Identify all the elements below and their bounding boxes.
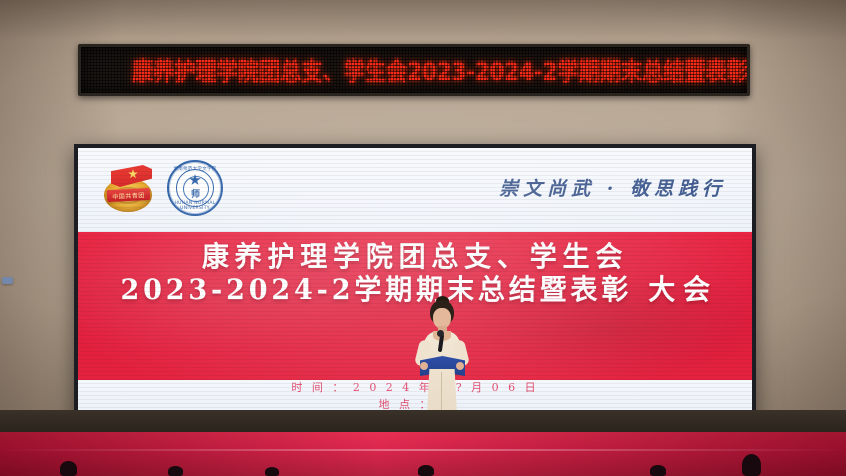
emblem-banner-icon: 中国共青团: [107, 188, 151, 202]
screen-title-line-1: 康养护理学院团总支、学生会: [202, 240, 628, 273]
screen-logo-group: 中国共青团 湖南师范大学文学院 师 HUNAN NORMAL UNIVERSIT…: [102, 160, 223, 216]
emblem-banner-text: 中国共青团: [107, 188, 151, 202]
stage-scene: 康养护理学院团总支、学生会2023-2024-2学期期末总结暨表彰大会 中国共青…: [0, 0, 846, 476]
stage-front-panel: [0, 410, 846, 432]
audience-head: [265, 467, 279, 476]
screen-title-line-3: 大会: [648, 273, 717, 306]
university-seal-icon: 湖南师范大学文学院 师 HUNAN NORMAL UNIVERSITY: [167, 160, 223, 216]
led-ticker-banner: 康养护理学院团总支、学生会2023-2024-2学期期末总结暨表彰大会: [78, 44, 750, 96]
speaker-right-hand: [456, 362, 464, 370]
speaker-left-hand: [420, 362, 428, 370]
communist-youth-league-emblem-icon: 中国共青团: [102, 162, 158, 214]
led-ticker-text: 康养护理学院团总支、学生会2023-2024-2学期期末总结暨表彰大会: [132, 52, 696, 88]
seal-center-glyph: 师: [169, 187, 221, 200]
audience-head: [650, 465, 666, 476]
seal-rim-bottom-text: HUNAN NORMAL UNIVERSITY: [169, 201, 221, 211]
screen-title-block: 康养护理学院团总支、学生会 2023-2024-2学期期末总结暨表彰 大会: [78, 240, 752, 306]
stage-floor-sheen: [0, 449, 846, 451]
audience-head: [168, 466, 183, 476]
screen-slogan: 崇文尚武 · 敬思践行: [499, 174, 726, 201]
seal-rim-top-text: 湖南师范大学文学院: [169, 166, 221, 172]
microphone-head-icon: [437, 330, 444, 337]
audience-head: [742, 454, 761, 476]
screen-title-line-2: 2023-2024-2学期期末总结暨表彰: [121, 273, 633, 306]
audience-head: [60, 461, 77, 476]
audience-head: [418, 465, 434, 476]
wall-fixture-icon: [2, 277, 13, 284]
